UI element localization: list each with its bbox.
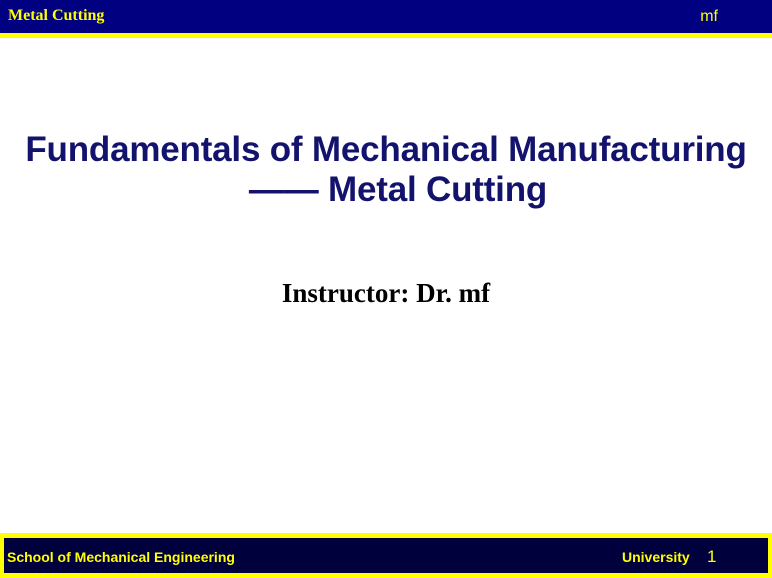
footer-school-label: School of Mechanical Engineering bbox=[7, 548, 235, 567]
header-author-mark: mf bbox=[700, 6, 718, 27]
header-running-title: Metal Cutting bbox=[8, 5, 104, 27]
page-title-line-1: Fundamentals of Mechanical Manufacturing bbox=[0, 130, 772, 170]
instructor-line: Instructor: Dr. mf bbox=[0, 276, 772, 310]
footer-organization-label: University bbox=[622, 548, 690, 567]
page-title-line-2: —— Metal Cutting bbox=[0, 170, 772, 210]
footer-page-number: 1 bbox=[707, 546, 716, 568]
slide-body: Fundamentals of Mechanical Manufacturing… bbox=[0, 38, 772, 533]
page-title: Fundamentals of Mechanical Manufacturing… bbox=[0, 130, 772, 210]
presentation-slide: Metal Cutting mf Fundamentals of Mechani… bbox=[0, 0, 772, 578]
slide-header-bar bbox=[0, 0, 772, 33]
footer-divider-rule-bottom bbox=[0, 573, 772, 578]
